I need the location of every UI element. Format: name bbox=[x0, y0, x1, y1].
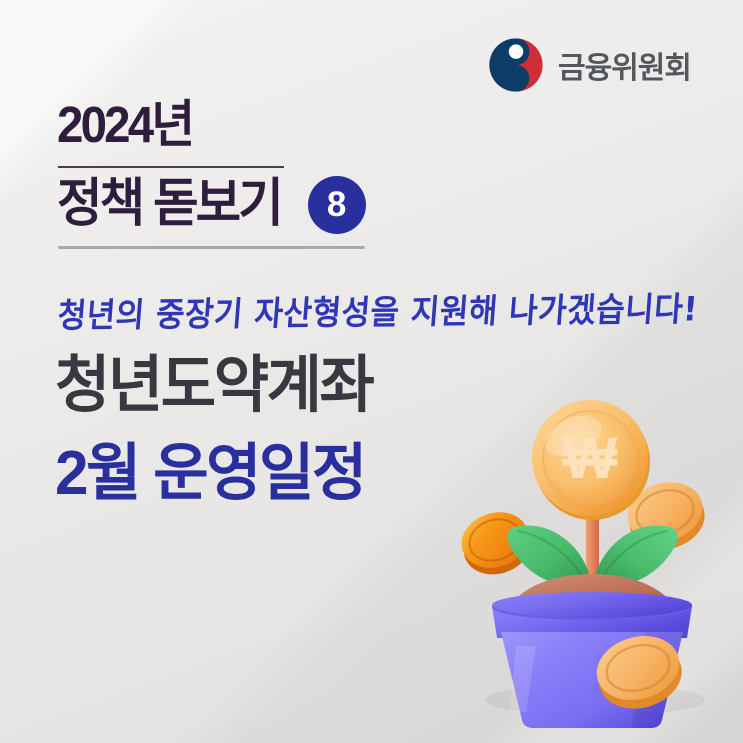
taegeuk-government-logo-icon bbox=[487, 36, 545, 94]
won-symbol: ₩ bbox=[563, 426, 618, 491]
series-label: 정책 돋보기 bbox=[57, 174, 281, 235]
divider-dark bbox=[58, 166, 284, 168]
main-title-line2: 2월 운영일정 bbox=[55, 443, 365, 505]
main-title-line1: 청년도약계좌 bbox=[55, 355, 372, 417]
infographic-card: 금융위원회 2024년 정책 돋보기 8 청년의 중장기 자산형성을 지원해 나… bbox=[0, 0, 743, 743]
money-plant-illustration: ₩ bbox=[440, 400, 740, 730]
series-year: 2024년 bbox=[57, 99, 192, 150]
main-won-coin: ₩ bbox=[532, 400, 650, 520]
handwritten-subtitle: 청년의 중장기 자산형성을 지원해 나가겠습니다! bbox=[56, 281, 700, 336]
organization-name: 금융위원회 bbox=[558, 43, 691, 87]
series-label-row: 정책 돋보기 8 bbox=[57, 174, 366, 235]
issue-number-badge: 8 bbox=[308, 176, 366, 234]
government-logo: 금융위원회 bbox=[487, 36, 691, 94]
divider-light bbox=[58, 246, 365, 249]
